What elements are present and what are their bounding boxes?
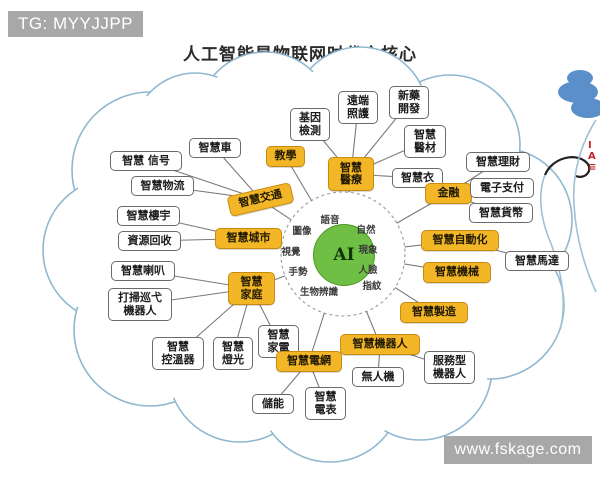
node-remote-care[interactable]: 遠端 照護 <box>338 91 378 124</box>
core-term: 手勢 <box>280 264 316 278</box>
node-smart-city[interactable]: 智慧城市 <box>215 228 282 249</box>
core-term: 圖像 <box>284 223 320 237</box>
node-new-drug[interactable]: 新藥 開發 <box>389 86 429 119</box>
node-smart-medical-dev[interactable]: 智慧 醫材 <box>404 125 446 158</box>
node-smart-thermostat[interactable]: 智慧 控溫器 <box>152 337 204 370</box>
node-smart-signal[interactable]: 智慧 信号 <box>110 151 182 171</box>
node-smart-meter[interactable]: 智慧 電表 <box>305 387 346 420</box>
node-smart-home[interactable]: 智慧 家庭 <box>228 272 275 305</box>
node-smart-car[interactable]: 智慧車 <box>189 138 241 158</box>
node-smart-wealth[interactable]: 智慧理財 <box>466 152 530 172</box>
diagram-canvas: 智慧車智慧 信号智慧物流智慧交通智慧樓宇資源回收智慧城市智慧喇叭打掃巡弋 機器人… <box>0 0 600 480</box>
core-term: 人臉 <box>350 262 386 276</box>
node-e-payment[interactable]: 電子支付 <box>470 178 534 198</box>
node-smart-healthcare[interactable]: 智慧 醫療 <box>328 157 374 191</box>
node-gene-test[interactable]: 基因 檢測 <box>290 108 330 141</box>
node-smart-robot[interactable]: 智慧機器人 <box>340 334 420 355</box>
core-term: 自然 <box>348 222 384 236</box>
core-term: 視覺 <box>273 244 309 258</box>
node-smart-building[interactable]: 智慧樓宇 <box>117 206 180 226</box>
node-smart-automation[interactable]: 智慧自動化 <box>421 230 499 251</box>
node-smart-grid[interactable]: 智慧電網 <box>276 351 342 372</box>
node-smart-manufacture[interactable]: 智慧製造 <box>400 302 468 323</box>
node-smart-currency[interactable]: 智慧貨幣 <box>469 203 533 223</box>
node-smart-machinery[interactable]: 智慧機械 <box>423 262 491 283</box>
node-finance[interactable]: 金融 <box>425 183 472 204</box>
node-teaching[interactable]: 教學 <box>266 146 305 167</box>
node-smart-logistics[interactable]: 智慧物流 <box>131 176 194 196</box>
node-smart-lighting[interactable]: 智慧 燈光 <box>213 337 253 370</box>
node-smart-motor[interactable]: 智慧馬達 <box>505 251 569 271</box>
node-cleaning-robot[interactable]: 打掃巡弋 機器人 <box>108 288 172 321</box>
node-smart-speaker[interactable]: 智慧喇叭 <box>111 261 175 281</box>
core-term: 現象 <box>350 242 386 256</box>
node-drone[interactable]: 無人機 <box>352 367 404 387</box>
connector-edges <box>0 0 600 480</box>
node-service-robot[interactable]: 服務型 機器人 <box>424 351 475 384</box>
core-term: 指紋 <box>354 278 390 292</box>
node-energy-storage[interactable]: 儲能 <box>252 394 294 414</box>
node-resource-recycle[interactable]: 資源回收 <box>118 231 181 251</box>
core-term: 生物辨識 <box>300 284 336 298</box>
red-side-note: Ⅰ A ≡ <box>588 140 600 192</box>
